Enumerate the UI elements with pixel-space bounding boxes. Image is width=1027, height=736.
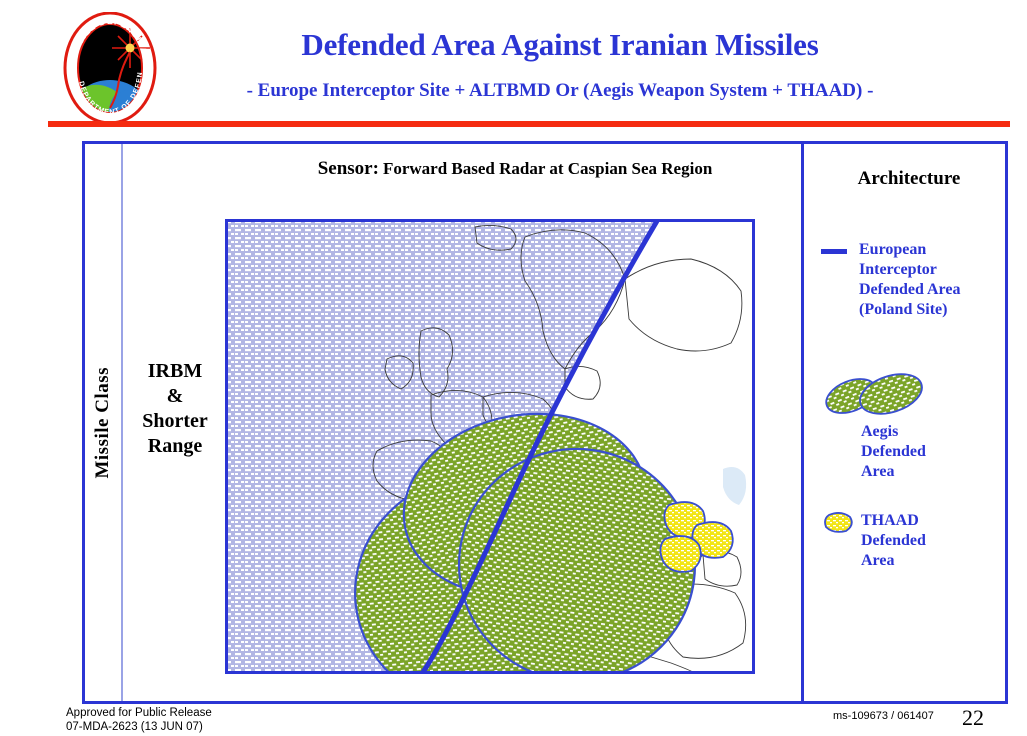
sensor-value: Forward Based Radar at Caspian Sea Regio… [383,159,712,178]
mda-seal-logo: MISSILE DEFENSE AGENCY DEPARTMENT OF DEF… [58,12,162,124]
legend-eids-line-1: European [859,241,926,258]
title-block: Defended Area Against Iranian Missiles -… [170,26,950,104]
architecture-title: Architecture [819,168,999,190]
missile-class-line-4: Range [123,434,227,459]
legend-thaad-line-2: Defended [861,532,926,549]
mda-seal-svg: MISSILE DEFENSE AGENCY DEPARTMENT OF DEF… [58,12,162,124]
page-title: Defended Area Against Iranian Missiles [170,26,950,64]
legend-eids-line-3: Defended Area [859,281,960,298]
legend-item-european-interceptor[interactable]: European Interceptor Defended Area (Pola… [821,240,1005,320]
release-line-1: Approved for Public Release [66,706,212,720]
architecture-divider [801,144,804,701]
document-number: ms-109673 / 061407 [833,710,934,722]
legend-line-swatch-icon [821,249,847,254]
legend-eids-line-2: Interceptor [859,261,937,278]
legend-aegis-line-3: Area [861,463,894,480]
missile-class-axis-label: Missile Class [85,144,121,701]
legend-item-aegis[interactable]: Aegis Defended Area [821,366,1005,482]
missile-class-line-2: & [123,384,227,409]
architecture-panel: Architecture European Interceptor Defend… [807,144,1005,701]
legend-thaad-swatch-icon [821,509,857,541]
legend-item-thaad[interactable]: THAAD Defended Area [821,509,1005,571]
public-release-notice: Approved for Public Release 07-MDA-2623 … [66,706,212,734]
legend-thaad-line-3: Area [861,552,894,569]
page-subtitle: - Europe Interceptor Site + ALTBMD Or (A… [170,78,950,104]
missile-class-line-1: IRBM [123,359,227,384]
missile-class-value: IRBM & Shorter Range [123,359,227,459]
page-number: 22 [962,705,984,731]
missile-class-axis-label-text: Missile Class [92,367,114,479]
title-divider-rule [48,121,1010,127]
sensor-label: Sensor: [318,158,379,179]
missile-class-line-3: Shorter [123,409,227,434]
map-panel [225,219,755,674]
content-frame: Missile Class IRBM & Shorter Range Senso… [82,141,1008,704]
slide-header: MISSILE DEFENSE AGENCY DEPARTMENT OF DEF… [0,0,1027,128]
defended-area-map [225,219,755,674]
release-line-2: 07-MDA-2623 (13 JUN 07) [66,720,212,734]
sensor-caption: Sensor: Forward Based Radar at Caspian S… [235,158,795,180]
legend-aegis-swatch-icon [821,366,941,428]
legend-eids-line-4: (Poland Site) [859,301,947,318]
legend-thaad-line-1: THAAD [861,512,919,529]
thaad-area-3 [660,536,700,572]
legend-aegis-line-2: Defended [861,443,926,460]
